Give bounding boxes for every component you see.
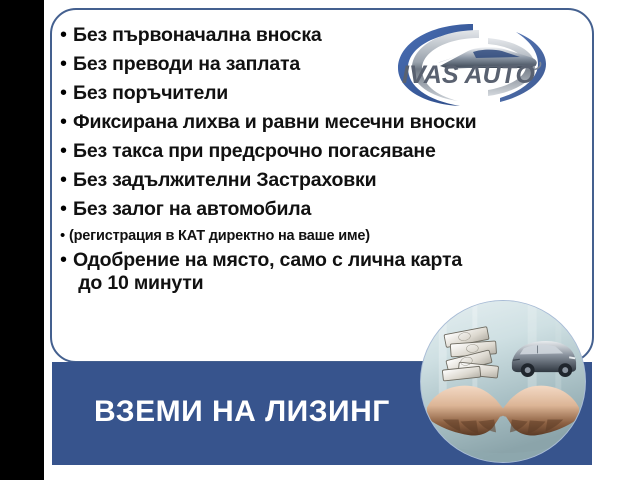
ivas-auto-logo[interactable]: IVAS AUTO [380, 18, 558, 110]
list-item-label: Без поръчители [73, 82, 228, 105]
bullet-icon: • [60, 198, 73, 220]
advertisement-banner: IVAS AUTO • Без първоначална вноска • Бе… [0, 0, 640, 480]
list-item-label: Без задължителни Застраховки [73, 169, 376, 192]
hands-money-car-photo [420, 300, 586, 463]
bullet-icon: • [60, 24, 73, 46]
list-item-label: (регистрация в КАТ директно на ваше име) [69, 227, 370, 245]
list-item-note: • (регистрация в КАТ директно на ваше им… [60, 227, 600, 245]
list-item: • Без залог на автомобила [60, 198, 600, 221]
list-item-label: Без преводи на заплата [73, 53, 300, 76]
list-item: • Без такса при предсрочно погасяване [60, 140, 600, 163]
list-item-label: Без залог на автомобила [73, 198, 311, 221]
bullet-icon: • [60, 169, 73, 191]
list-item-label: Одобрение на място, само с лична карта д… [73, 249, 462, 295]
bullet-icon: • [60, 111, 73, 133]
bullet-icon: • [60, 140, 73, 162]
list-item-label: Без такса при предсрочно погасяване [73, 140, 436, 163]
bullet-icon: • [60, 53, 73, 75]
bullet-icon: • [60, 249, 73, 271]
list-item-label: Фиксирана лихва и равни месечни вноски [73, 111, 476, 134]
cta-headline: ВЗЕМИ НА ЛИЗИНГ [94, 395, 390, 429]
bullet-icon: • [60, 227, 69, 245]
list-item: • Без задължителни Застраховки [60, 169, 600, 192]
bullet-icon: • [60, 82, 73, 104]
list-item: • Одобрение на място, само с лична карта… [60, 249, 600, 295]
list-item: • Фиксирана лихва и равни месечни вноски [60, 111, 600, 134]
letterbox-bar-left [0, 0, 44, 480]
logo-wordmark: IVAS AUTO [402, 61, 535, 89]
list-item-label: Без първоначална вноска [73, 24, 322, 47]
ad-canvas: IVAS AUTO • Без първоначална вноска • Бе… [44, 0, 640, 480]
